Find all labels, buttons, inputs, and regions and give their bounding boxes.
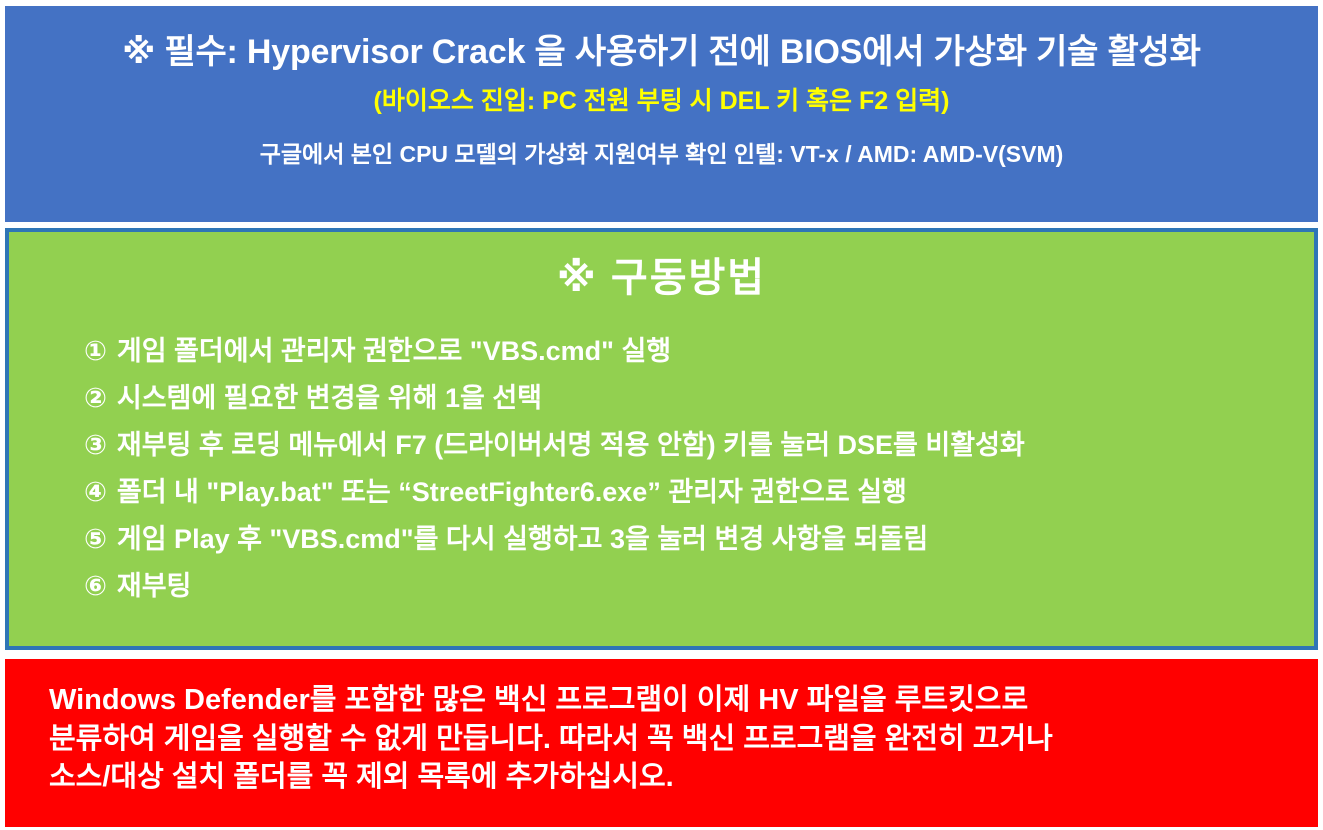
step-marker: ⑤ xyxy=(84,526,107,553)
how-to-run-title: ※ 구동방법 xyxy=(9,256,1314,300)
step-text: 재부팅 xyxy=(117,571,192,601)
antivirus-warning-panel: Windows Defender를 포함한 많은 백신 프로그램이 이제 HV … xyxy=(5,659,1318,827)
list-item: ④폴더 내 "Play.bat" 또는 “StreetFighter6.exe”… xyxy=(9,479,1314,506)
step-text: 게임 Play 후 "VBS.cmd"를 다시 실행하고 3을 눌러 변경 사항… xyxy=(117,524,928,554)
step-marker: ① xyxy=(84,338,107,365)
step-text: 게임 폴더에서 관리자 권한으로 "VBS.cmd" 실행 xyxy=(117,336,671,366)
how-to-run-step-list: ①게임 폴더에서 관리자 권한으로 "VBS.cmd" 실행 ②시스템에 필요한… xyxy=(9,338,1314,600)
step-marker: ② xyxy=(84,385,107,412)
bios-entry-note: (바이오스 진입: PC 전원 부팅 시 DEL 키 혹은 F2 입력) xyxy=(374,88,950,116)
step-marker: ④ xyxy=(84,479,107,506)
prerequisite-header-panel: ※ 필수: Hypervisor Crack 을 사용하기 전에 BIOS에서 … xyxy=(5,6,1318,222)
warning-line-2: 분류하여 게임을 실행할 수 없게 만듭니다. 따라서 꼭 백신 프로그램을 완… xyxy=(5,720,1318,759)
warning-line-3: 소스/대상 설치 폴더를 꼭 제외 목록에 추가하십시오. xyxy=(5,758,1318,797)
instruction-poster: ※ 필수: Hypervisor Crack 을 사용하기 전에 BIOS에서 … xyxy=(0,0,1323,830)
step-marker: ③ xyxy=(84,432,107,459)
prerequisite-title: ※ 필수: Hypervisor Crack 을 사용하기 전에 BIOS에서 … xyxy=(122,34,1200,71)
step-text: 시스템에 필요한 변경을 위해 1을 선택 xyxy=(117,383,542,413)
step-text: 폴더 내 "Play.bat" 또는 “StreetFighter6.exe” … xyxy=(117,477,907,507)
how-to-run-panel: ※ 구동방법 ①게임 폴더에서 관리자 권한으로 "VBS.cmd" 실행 ②시… xyxy=(5,228,1318,650)
step-marker: ⑥ xyxy=(84,573,107,600)
step-text: 재부팅 후 로딩 메뉴에서 F7 (드라이버서명 적용 안함) 키를 눌러 DS… xyxy=(117,430,1025,460)
cpu-virtualization-check-note: 구글에서 본인 CPU 모델의 가상화 지원여부 확인 인텔: VT-x / A… xyxy=(260,142,1064,167)
warning-line-1: Windows Defender를 포함한 많은 백신 프로그램이 이제 HV … xyxy=(5,681,1318,720)
list-item: ⑤게임 Play 후 "VBS.cmd"를 다시 실행하고 3을 눌러 변경 사… xyxy=(9,526,1314,553)
list-item: ②시스템에 필요한 변경을 위해 1을 선택 xyxy=(9,385,1314,412)
list-item: ①게임 폴더에서 관리자 권한으로 "VBS.cmd" 실행 xyxy=(9,338,1314,365)
list-item: ⑥재부팅 xyxy=(9,573,1314,600)
list-item: ③재부팅 후 로딩 메뉴에서 F7 (드라이버서명 적용 안함) 키를 눌러 D… xyxy=(9,432,1314,459)
